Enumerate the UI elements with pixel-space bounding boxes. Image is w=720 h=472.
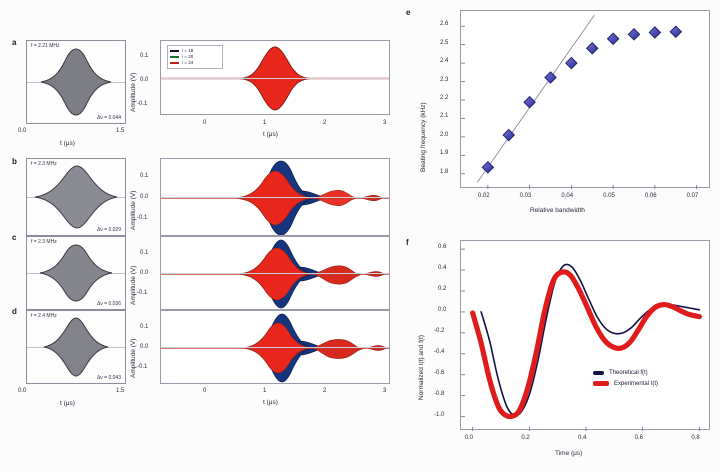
panel-d-xtick-2b: 2 — [323, 388, 326, 394]
legend-label-theoretical: Theoretical f(t) — [609, 370, 648, 376]
grey-envelope-a — [39, 47, 113, 117]
panel-e-ytick: 2.5 — [440, 40, 448, 46]
panel-f-plot: Theoretical f(t) Experimental I(t) — [460, 240, 710, 430]
panel-e-xtick: 0.03 — [520, 193, 532, 199]
panel-f-xtick: 0.2 — [521, 435, 529, 441]
panel-c-envelope-plot: f = 2.3 MHz Δν = 0.036 — [26, 236, 126, 310]
panel-d-envelope-plot: f = 2.4 MHz Δν = 0.043 — [26, 310, 126, 384]
panel-d-bandwidth-note: Δν = 0.043 — [97, 375, 121, 381]
panel-b-amplitude-plot — [160, 158, 390, 236]
panel-f-ytick: 0.2 — [438, 286, 446, 292]
panel-e-datapoint — [608, 33, 619, 44]
panel-d-ytick-2: -0.1 — [137, 364, 147, 370]
panel-c-ytick-2: -0.1 — [137, 290, 147, 296]
zero-axis-line — [161, 347, 389, 348]
panel-f-ytick: -0.6 — [434, 370, 444, 376]
panel-b-ytick-1: 0.0 — [140, 194, 148, 200]
legend-item-experimental: Experimental I(t) — [593, 378, 658, 389]
grey-envelope-d — [42, 316, 110, 378]
panel-f-xlabel: Time (μs) — [555, 450, 582, 457]
panel-f-ytick: -0.8 — [434, 391, 444, 397]
legend-swatch-i20 — [170, 56, 179, 58]
panel-d-frequency-note: f = 2.4 MHz — [31, 313, 57, 319]
panel-e-datapoint — [545, 72, 556, 83]
figure-canvas: a f = 2.21 MHz Δν = 0.044 0.0 1.5 t (μs)… — [0, 0, 720, 472]
panel-a-amplitude-plot: i = 16 i = 20 i = 24 — [160, 40, 390, 115]
panel-f-series-theoretical — [481, 264, 699, 415]
panel-e-canvas — [461, 11, 711, 189]
panel-b-frequency-note: f = 2.3 MHz — [31, 161, 57, 167]
legend-label-i24: i = 24 — [182, 60, 193, 66]
panel-letter-c: c — [12, 233, 16, 242]
panel-b-ytick-0: 0.1 — [140, 173, 148, 179]
panel-e-xtick: 0.05 — [603, 193, 615, 199]
panel-f-xtick: 0.6 — [635, 435, 643, 441]
panel-c-ytick-0: 0.1 — [140, 250, 148, 256]
panel-e-ytick: 2.0 — [440, 132, 448, 138]
panel-d-xtick-1: 1.5 — [116, 388, 124, 394]
panel-letter-f: f — [406, 238, 409, 247]
panel-a-ytick-1: 0.0 — [140, 77, 148, 83]
panel-c-amplitude-plot — [160, 236, 390, 310]
panel-e-ytick: 2.6 — [440, 21, 448, 27]
panel-a-legend: i = 16 i = 20 i = 24 — [167, 45, 223, 69]
grey-envelope-c — [38, 243, 114, 303]
panel-a-xtick-3b: 3 — [383, 120, 386, 126]
panel-d-xtick-0b: 0 — [203, 388, 206, 394]
legend-label-experimental: Experimental I(t) — [614, 381, 658, 387]
panel-e-ytick: 2.3 — [440, 77, 448, 83]
panel-f-ylabel: Normalized I(t) and f(t) — [418, 335, 425, 400]
panel-d-ylabel: Amplitude (V) — [130, 339, 137, 378]
panel-f-ytick: -0.2 — [434, 328, 444, 334]
panel-letter-d: d — [12, 307, 17, 316]
panel-b-bandwidth-note: Δν = 0.029 — [97, 227, 121, 233]
panel-f-xtick: 0.0 — [465, 435, 473, 441]
legend-swatch-experimental — [593, 381, 609, 386]
panel-a-xtick-1: 1.5 — [116, 128, 124, 134]
panel-f-ytick: -0.4 — [434, 349, 444, 355]
panel-b-envelope-plot: f = 2.3 MHz Δν = 0.029 — [26, 158, 126, 236]
panel-a-xtick-2b: 2 — [323, 120, 326, 126]
legend-swatch-theoretical — [593, 371, 604, 375]
panel-a-xlabel-b: t (μs) — [263, 131, 278, 138]
panel-f-ytick: -1.0 — [434, 412, 444, 418]
grey-envelope-b — [33, 164, 119, 230]
panel-a-xtick-0b: 0 — [203, 120, 206, 126]
legend-item-2: i = 24 — [170, 60, 219, 66]
panel-a-xlabel: t (μs) — [60, 140, 75, 147]
panel-a-ytick-0: 0.1 — [140, 53, 148, 59]
panel-c-bandwidth-note: Δν = 0.036 — [97, 301, 121, 307]
panel-b-ylabel: Amplitude (V) — [130, 191, 137, 230]
panel-d-ytick-0: 0.1 — [140, 324, 148, 330]
panel-a-frequency-note: f = 2.21 MHz — [31, 43, 59, 49]
panel-a-xtick-0: 0.0 — [18, 128, 26, 134]
panel-letter-b: b — [12, 157, 17, 166]
panel-e-datapoint — [482, 162, 493, 173]
panel-c-ytick-1: 0.0 — [140, 270, 148, 276]
panel-f-ytick: 0.4 — [438, 265, 446, 271]
panel-e-xtick: 0.04 — [561, 193, 573, 199]
panel-d-xlabel: t (μs) — [60, 400, 75, 407]
panel-a-ylabel: Amplitude (V) — [130, 73, 137, 112]
panel-d-xtick-1b: 1 — [263, 388, 266, 394]
panel-e-datapoint — [670, 26, 681, 37]
panel-c-ylabel: Amplitude (V) — [130, 266, 137, 305]
panel-e-datapoint — [649, 27, 660, 38]
panel-f-canvas — [461, 241, 711, 431]
panel-b-ytick-2: -0.1 — [137, 215, 147, 221]
panel-e-ytick: 1.9 — [440, 150, 448, 156]
panel-f-xtick: 0.8 — [691, 435, 699, 441]
panel-a-bandwidth-note: Δν = 0.044 — [97, 115, 121, 121]
panel-e-datapoint — [566, 58, 577, 69]
panel-e-datapoint — [628, 29, 639, 40]
zero-axis-line — [161, 197, 389, 198]
zero-axis-line — [161, 78, 389, 79]
panel-e-ytick: 2.4 — [440, 58, 448, 64]
panel-c-frequency-note: f = 2.3 MHz — [31, 239, 57, 245]
panel-f-ytick: 0.0 — [438, 307, 446, 313]
panel-e-xtick: 0.06 — [645, 193, 657, 199]
panel-f-legend: Theoretical f(t) Experimental I(t) — [593, 367, 658, 389]
panel-e-ytick: 2.1 — [440, 113, 448, 119]
legend-item-theoretical: Theoretical f(t) — [593, 367, 658, 378]
panel-letter-e: e — [406, 8, 410, 17]
panel-d-amplitude-plot — [160, 310, 390, 384]
panel-f-xtick: 0.4 — [578, 435, 586, 441]
panel-e-xlabel: Relative bandwidth — [530, 207, 585, 214]
panel-e-xtick: 0.07 — [687, 193, 699, 199]
panel-a-ytick-2: -0.1 — [137, 101, 147, 107]
panel-e-xtick: 0.02 — [478, 193, 490, 199]
legend-swatch-i24 — [170, 62, 179, 64]
legend-swatch-i16 — [170, 50, 179, 52]
panel-d-ytick-1: 0.0 — [140, 344, 148, 350]
panel-d-xtick-0: 0.0 — [18, 388, 26, 394]
panel-d-xlabel-b: t (μs) — [263, 399, 278, 406]
panel-e-datapoint — [587, 43, 598, 54]
panel-a-envelope-plot: f = 2.21 MHz Δν = 0.044 — [26, 40, 126, 124]
panel-e-ylabel: Beating frequency (kHz) — [420, 102, 427, 172]
panel-d-xtick-3b: 3 — [383, 388, 386, 394]
panel-e-plot — [460, 10, 710, 188]
panel-letter-a: a — [12, 38, 16, 47]
panel-a-xtick-1b: 1 — [263, 120, 266, 126]
panel-e-ytick: 2.2 — [440, 95, 448, 101]
panel-f-ytick: 0.6 — [438, 244, 446, 250]
zero-axis-line — [161, 273, 389, 274]
panel-e-ytick: 1.8 — [440, 169, 448, 175]
panel-e-datapoint — [524, 97, 535, 108]
